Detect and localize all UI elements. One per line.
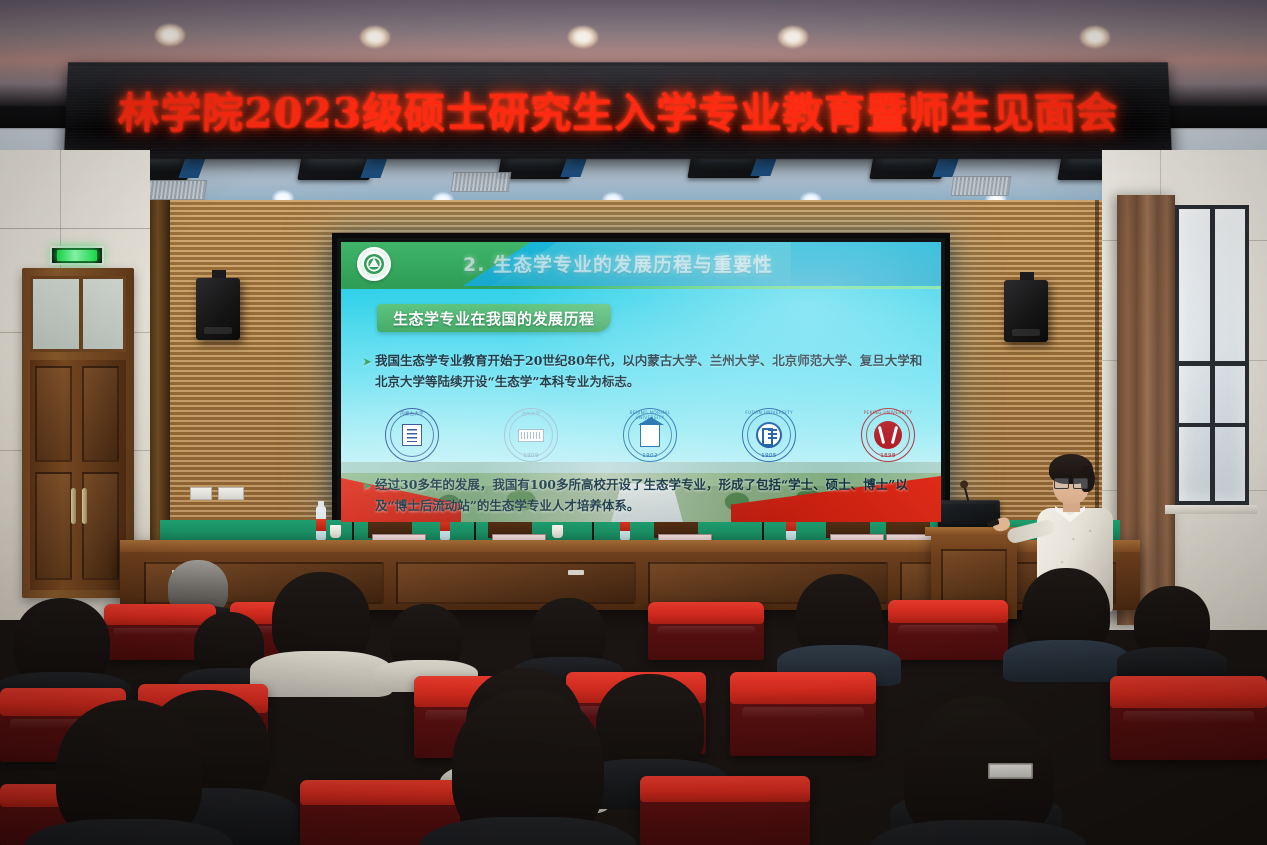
paper-cup-2 bbox=[552, 525, 563, 538]
logo-top-text: PEKING UNIVERSITY bbox=[861, 411, 915, 416]
audience-head-c2 bbox=[452, 690, 604, 845]
audience-head-a4 bbox=[272, 572, 370, 668]
seat-headrest bbox=[640, 776, 810, 802]
slide-bullet-1: ➤ 我国生态学专业教育开始于20世纪80年代，以内蒙古大学、兰州大学、北京师范大… bbox=[375, 350, 923, 392]
podium-front-panel bbox=[941, 549, 1007, 607]
window bbox=[1175, 205, 1249, 505]
logo-bottom-text: 1905 bbox=[742, 453, 796, 459]
audience-head-c1 bbox=[56, 700, 202, 845]
seat-sheen bbox=[113, 628, 207, 636]
audience-head-a9 bbox=[1134, 586, 1210, 660]
door-panel-br bbox=[82, 472, 119, 580]
seat-c3[interactable] bbox=[640, 776, 810, 845]
logo-top-text: FUDAN UNIVERSITY bbox=[742, 411, 796, 416]
seat-headrest bbox=[888, 600, 1008, 623]
exit-sign-glow bbox=[57, 250, 97, 261]
wall-speaker-right bbox=[1004, 280, 1048, 342]
logo-mark bbox=[640, 423, 660, 447]
seat-sheen bbox=[742, 707, 865, 719]
seat-sheen bbox=[898, 625, 999, 633]
audience-head-a6 bbox=[530, 598, 606, 670]
door-glass-panel bbox=[30, 276, 126, 352]
audience-shoulders bbox=[1003, 640, 1130, 682]
window-ledge bbox=[1165, 505, 1257, 514]
audience-head-a7 bbox=[796, 574, 882, 660]
slide-title: 2. 生态学专业的发展历程与重要性 bbox=[463, 251, 893, 279]
wall-switch-plate[interactable] bbox=[190, 487, 212, 500]
slide-bullet-2-text: 经过30多年的发展，我国有100多所高校开设了生态学专业，形成了包括“学士、硕士… bbox=[375, 477, 908, 513]
slide-header-rule bbox=[341, 286, 941, 289]
door-panel-tl bbox=[35, 366, 72, 462]
logo-fudan-university: FUDAN UNIVERSITY 1905 bbox=[742, 408, 796, 462]
logo-mark bbox=[402, 424, 422, 446]
logo-top-text: 内蒙古大学 bbox=[385, 411, 439, 417]
logo-top-text: 兰州大学 bbox=[504, 411, 558, 417]
slide-subtitle-text: 生态学专业在我国的发展历程 bbox=[393, 308, 595, 329]
exit-sign bbox=[50, 246, 104, 265]
logo-peking-university: PEKING UNIVERSITY 1898 bbox=[861, 408, 915, 462]
door-handle-right[interactable] bbox=[82, 488, 87, 524]
downlight-1 bbox=[155, 24, 185, 46]
seat-b5[interactable] bbox=[730, 672, 876, 756]
seat-headrest bbox=[648, 602, 764, 624]
presenter-glasses bbox=[1054, 478, 1088, 487]
bullet-marker-2: ➤ bbox=[363, 476, 371, 497]
audience-head-a8 bbox=[1022, 568, 1110, 656]
logo-bottom-text: 1902 bbox=[623, 453, 677, 459]
table-badge-2 bbox=[568, 570, 584, 575]
seat-b6[interactable] bbox=[1110, 676, 1267, 760]
slide-bullet-1-text: 我国生态学专业教育开始于20世纪80年代，以内蒙古大学、兰州大学、北京师范大学、… bbox=[375, 353, 922, 389]
seat-headrest bbox=[300, 780, 460, 805]
led-banner: 林学院2023级硕士研究生入学专业教育暨师生见面会 bbox=[64, 62, 1172, 159]
table-panel-2 bbox=[396, 562, 636, 604]
logo-bottom-text: 1909 bbox=[504, 453, 558, 459]
crest-emblem bbox=[364, 254, 384, 274]
led-banner-text: 林学院2023级硕士研究生入学专业教育暨师生见面会 bbox=[65, 79, 1171, 139]
seat-sheen bbox=[1123, 711, 1255, 723]
double-door[interactable] bbox=[22, 268, 134, 598]
logo-mark bbox=[518, 429, 544, 442]
logo-lanzhou-university: 兰州大学 1909 bbox=[504, 408, 558, 462]
wall-outlet-plate[interactable] bbox=[218, 487, 244, 500]
logo-top-text: BEIJING NORMAL UNIVERSITY bbox=[623, 411, 677, 421]
wall-speaker-left bbox=[196, 278, 240, 340]
logo-mark bbox=[756, 422, 782, 448]
air-vent-3 bbox=[951, 176, 1012, 196]
bullet-marker-1: ➤ bbox=[363, 352, 371, 373]
university-crest-icon bbox=[357, 247, 391, 281]
lecture-hall-scene: 林学院2023级硕士研究生入学专业教育暨师生见面会 bbox=[0, 0, 1267, 845]
presentation-slide: 2. 生态学专业的发展历程与重要性 生态学专业在我国的发展历程 ➤ 我国生态学专… bbox=[341, 242, 941, 522]
slide-bullet-2: ➤ 经过30多年的发展，我国有100多所高校开设了生态学专业，形成了包括“学士、… bbox=[375, 474, 931, 516]
seat-sheen bbox=[657, 626, 754, 634]
door-panel-tr bbox=[82, 366, 119, 462]
window-mullion-h2 bbox=[1179, 423, 1245, 427]
logo-beijing-normal-university: BEIJING NORMAL UNIVERSITY 1902 bbox=[623, 408, 677, 462]
downlight-2 bbox=[360, 26, 390, 48]
hair-clip bbox=[988, 763, 1033, 779]
door-leaves bbox=[30, 360, 126, 590]
seat-headrest bbox=[104, 604, 216, 625]
audience-head-c3 bbox=[904, 708, 1054, 845]
audience-head-a5 bbox=[390, 604, 462, 672]
slide-subtitle-badge: 生态学专业在我国的发展历程 bbox=[377, 304, 611, 332]
projection-screen: 2. 生态学专业的发展历程与重要性 生态学专业在我国的发展历程 ➤ 我国生态学专… bbox=[332, 233, 950, 531]
downlight-4 bbox=[778, 26, 808, 48]
bottle-cap bbox=[318, 501, 324, 507]
logo-mark bbox=[874, 421, 902, 449]
seat-headrest bbox=[1110, 676, 1267, 708]
audience-head-b3 bbox=[596, 674, 704, 778]
air-vent-1 bbox=[147, 180, 208, 200]
seat-a4[interactable] bbox=[888, 600, 1008, 660]
door-handle-left[interactable] bbox=[71, 488, 76, 524]
university-logo-row: 内蒙古大学 兰州大学 1909 BEIJING NORMAL UNIVERSIT… bbox=[385, 404, 915, 466]
door-panel-bl bbox=[35, 472, 72, 580]
audience-shoulders bbox=[250, 651, 391, 697]
audience-head-a2 bbox=[14, 598, 110, 688]
air-vent-2 bbox=[451, 172, 512, 192]
water-bottle-0 bbox=[316, 506, 326, 540]
window-mullion-v bbox=[1210, 209, 1215, 501]
logo-inner-mongolia-university: 内蒙古大学 bbox=[385, 408, 439, 462]
bottle-label bbox=[316, 519, 326, 531]
downlight-5 bbox=[1080, 26, 1110, 48]
seat-headrest bbox=[730, 672, 876, 704]
logo-bottom-text: 1898 bbox=[861, 453, 915, 459]
paper-cup-0 bbox=[330, 525, 341, 538]
window-mullion-h1 bbox=[1179, 361, 1245, 366]
downlight-3 bbox=[568, 26, 598, 48]
seat-a3[interactable] bbox=[648, 602, 764, 660]
